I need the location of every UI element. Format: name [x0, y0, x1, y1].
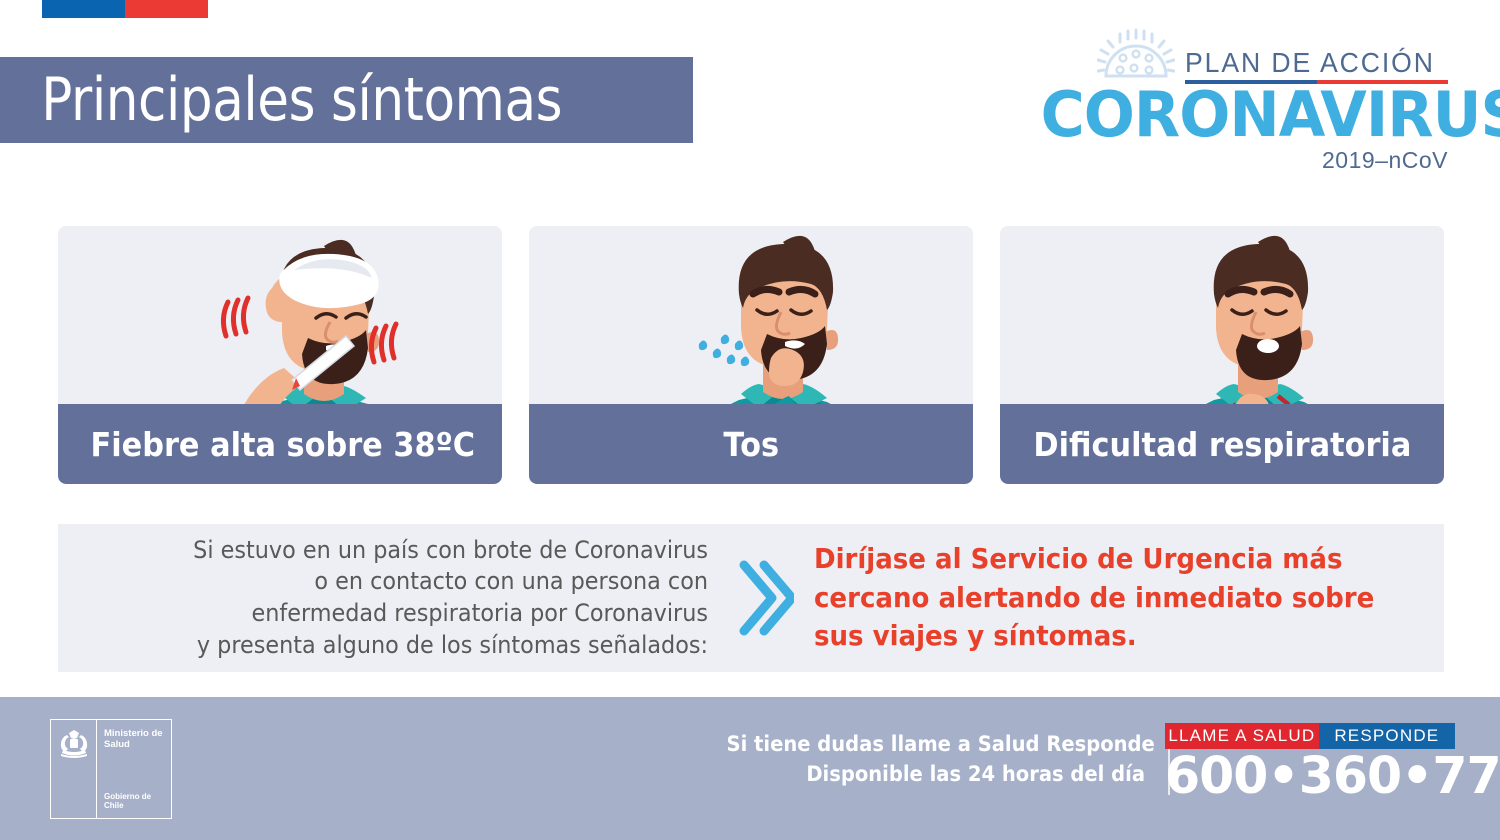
- coronavirus-wordmark: CORONAVIRUS: [1041, 86, 1448, 145]
- advice-condition-line-1: Si estuvo en un país con brote de Corona…: [104, 535, 709, 567]
- footer-band: Ministerio de Salud Gobierno de Chile Si…: [0, 697, 1500, 840]
- ministry-name-line-2: Salud: [104, 739, 130, 750]
- ministry-of-health-logo: Ministerio de Salud Gobierno de Chile: [50, 719, 172, 819]
- coronavirus-plan-logo: PLAN DE ACCIÓN CORONAVIRUS 2019–nCoV: [1028, 28, 1448, 156]
- symptom-label-breathing-text: Dificultad respiratoria: [1033, 425, 1411, 464]
- footer-help-line-1: Si tiene dudas llame a Salud Responde: [727, 730, 1146, 760]
- advice-action-line-3: sus viajes y síntomas.: [814, 617, 1400, 656]
- advice-action-line-2: cercano alertando de inmediato sobre: [814, 579, 1400, 618]
- advice-action-line-1: Diríjase al Servicio de Urgencia más: [814, 540, 1400, 579]
- symptom-card-fever[interactable]: Fiebre alta sobre 38ºC: [58, 226, 502, 484]
- government-of-chile-label: Gobierno de Chile: [104, 792, 171, 810]
- symptom-label-cough-text: Tos: [723, 425, 779, 464]
- advice-panel: Si estuvo en un país con brote de Corona…: [58, 524, 1444, 672]
- salud-responde-phone-number[interactable]: 600•360•7777: [1165, 750, 1452, 804]
- symptom-label-breathing: Dificultad respiratoria: [1000, 404, 1444, 484]
- chile-coat-of-arms-icon: [51, 720, 97, 818]
- symptom-cards-row: Fiebre alta sobre 38ºC: [58, 226, 1444, 484]
- plan-de-accion-text: PLAN DE ACCIÓN: [1185, 48, 1435, 77]
- call-tag-red-text: LLAME A SALUD: [1165, 723, 1319, 749]
- footer-help-line-2: Disponible las 24 horas del día: [727, 760, 1146, 790]
- chile-flag-bar: [42, 0, 208, 18]
- flag-blue-segment: [42, 0, 125, 18]
- salud-responde-tag: LLAME A SALUD RESPONDE: [1165, 723, 1455, 749]
- page-title: Principales síntomas: [0, 70, 562, 130]
- footer-help-message: Si tiene dudas llame a Salud Responde Di…: [695, 730, 1145, 790]
- advice-condition-line-4: y presenta alguno de los síntomas señala…: [104, 630, 709, 662]
- flag-red-segment: [125, 0, 208, 18]
- ministry-name-line-1: Ministerio de: [104, 728, 163, 739]
- page-title-band: Principales síntomas: [0, 57, 693, 143]
- advice-condition-line-2: o en contacto con una persona con: [104, 566, 709, 598]
- ministry-name-block: Ministerio de Salud Gobierno de Chile: [97, 720, 171, 818]
- call-tag-blue-text: RESPONDE: [1319, 723, 1455, 749]
- symptom-card-breathing[interactable]: Dificultad respiratoria: [1000, 226, 1444, 484]
- advice-condition-line-3: enfermedad respiratoria por Coronavirus: [104, 598, 709, 630]
- symptom-label-fever: Fiebre alta sobre 38ºC: [58, 404, 502, 484]
- coronavirus-icon: [1097, 28, 1175, 84]
- salud-responde-callbox[interactable]: LLAME A SALUD RESPONDE 600•360•7777: [1165, 723, 1455, 804]
- symptom-label-cough: Tos: [529, 404, 973, 484]
- advice-action-text: Diríjase al Servicio de Urgencia más cer…: [814, 540, 1444, 656]
- symptom-card-cough[interactable]: Tos: [529, 226, 973, 484]
- double-chevron-right-icon: [718, 559, 814, 637]
- advice-condition-text: Si estuvo en un país con brote de Corona…: [58, 535, 718, 662]
- symptom-label-fever-text: Fiebre alta sobre 38ºC: [85, 425, 475, 464]
